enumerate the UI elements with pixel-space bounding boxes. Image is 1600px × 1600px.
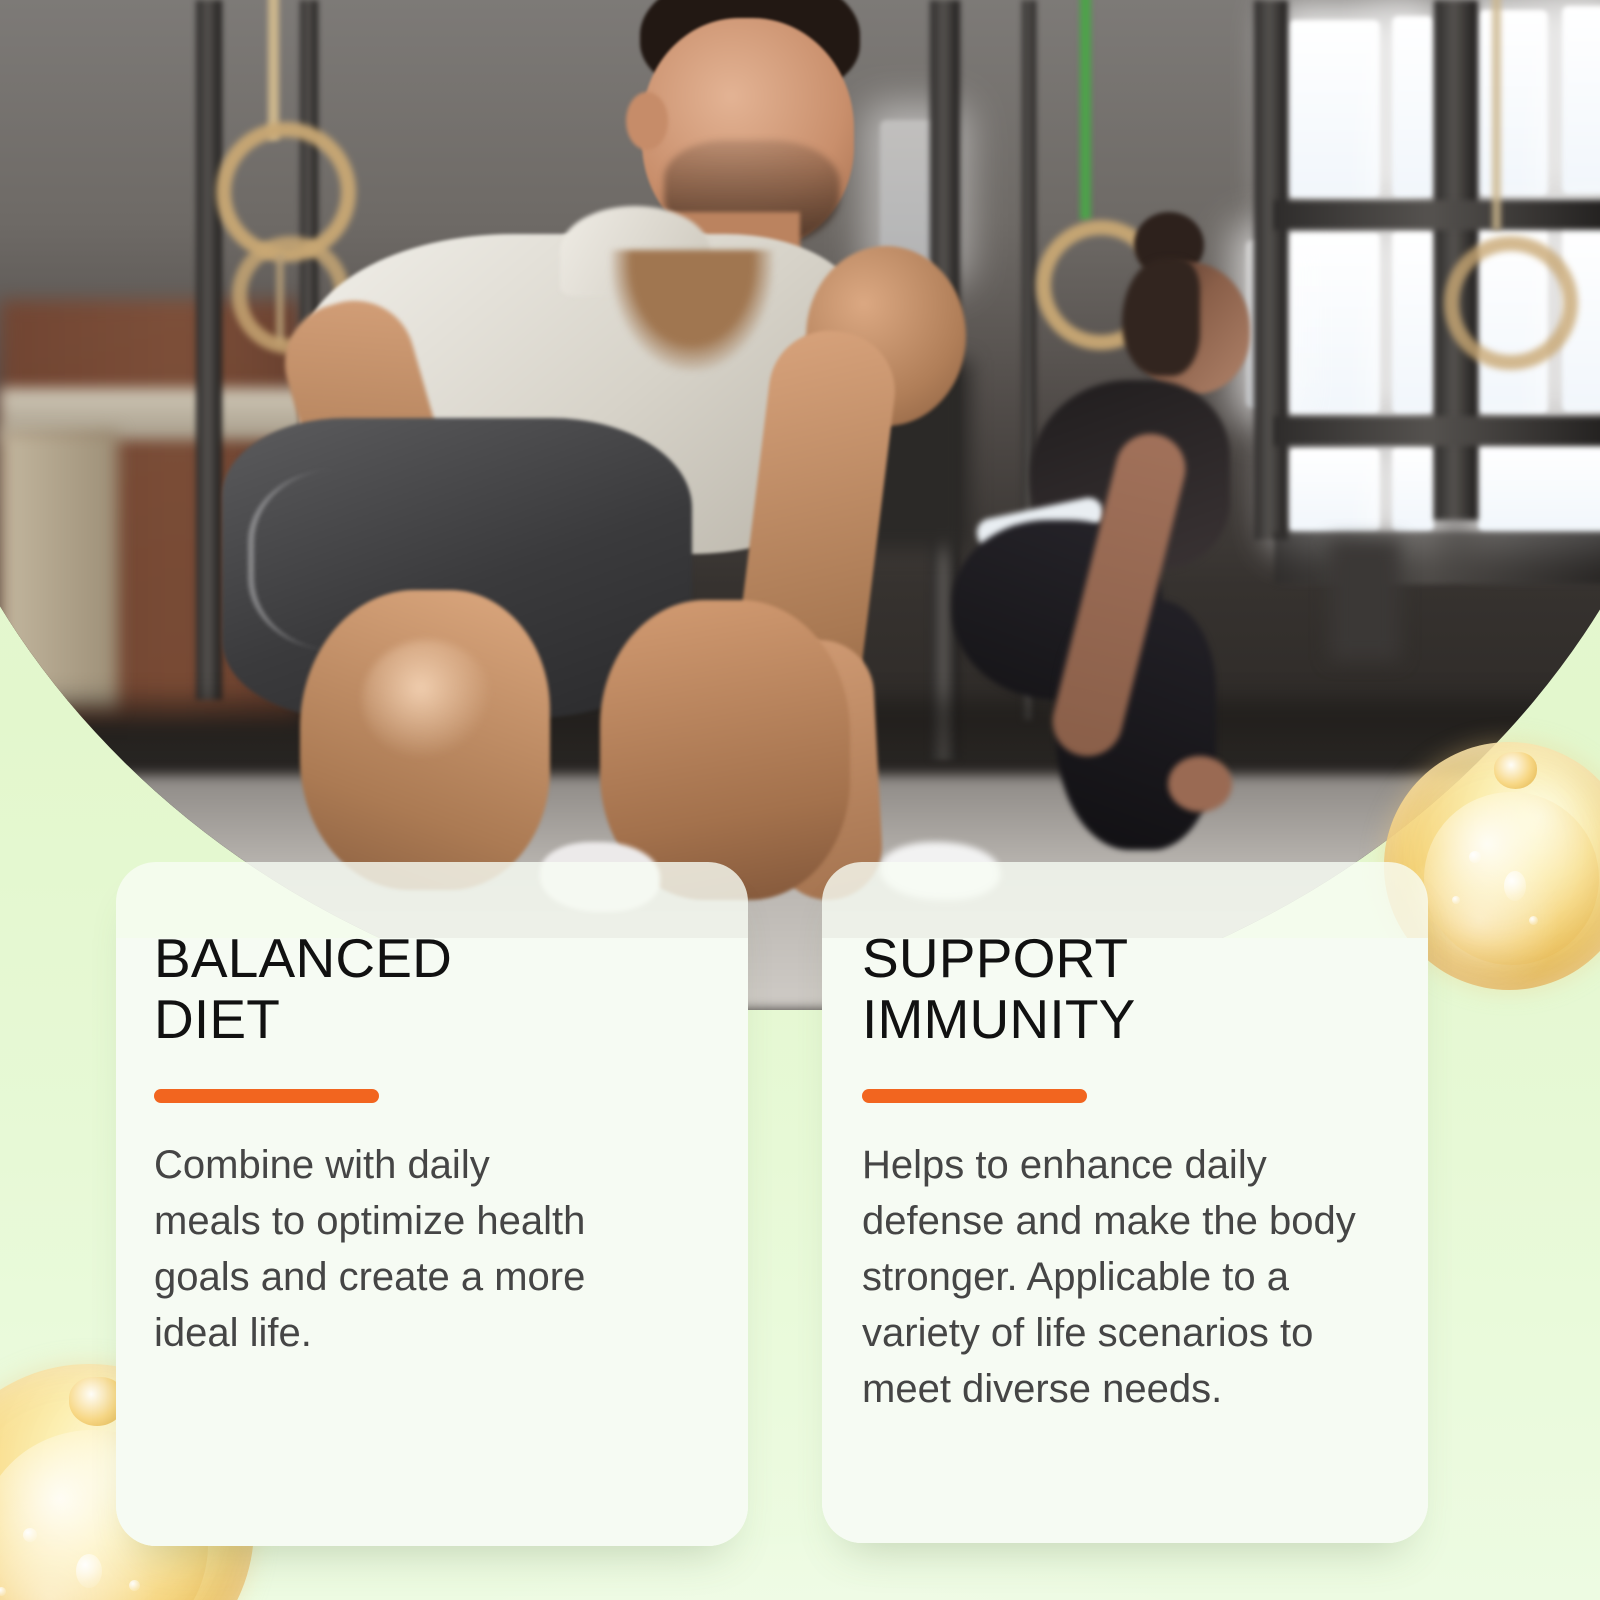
accent-rule-support-immunity [862,1089,1087,1103]
card-body-support-immunity: Helps to enhance daily defense and make … [862,1137,1362,1417]
accent-rule-balanced-diet [154,1089,379,1103]
card-title-support-immunity: SUPPORT IMMUNITY [862,928,1428,1049]
feature-card-support-immunity[interactable]: SUPPORT IMMUNITY Helps to enhance daily … [822,862,1428,1543]
card-title-balanced-diet: BALANCED DIET [154,928,748,1049]
feature-card-balanced-diet[interactable]: BALANCED DIET Combine with daily meals t… [116,862,748,1546]
card-content: BALANCED DIET Combine with daily meals t… [116,862,748,1361]
poster-canvas: BALANCED DIET Combine with daily meals t… [0,0,1600,1600]
card-body-balanced-diet: Combine with daily meals to optimize hea… [154,1137,594,1361]
feature-card-list: BALANCED DIET Combine with daily meals t… [0,0,1600,1600]
card-content: SUPPORT IMMUNITY Helps to enhance daily … [822,862,1428,1417]
